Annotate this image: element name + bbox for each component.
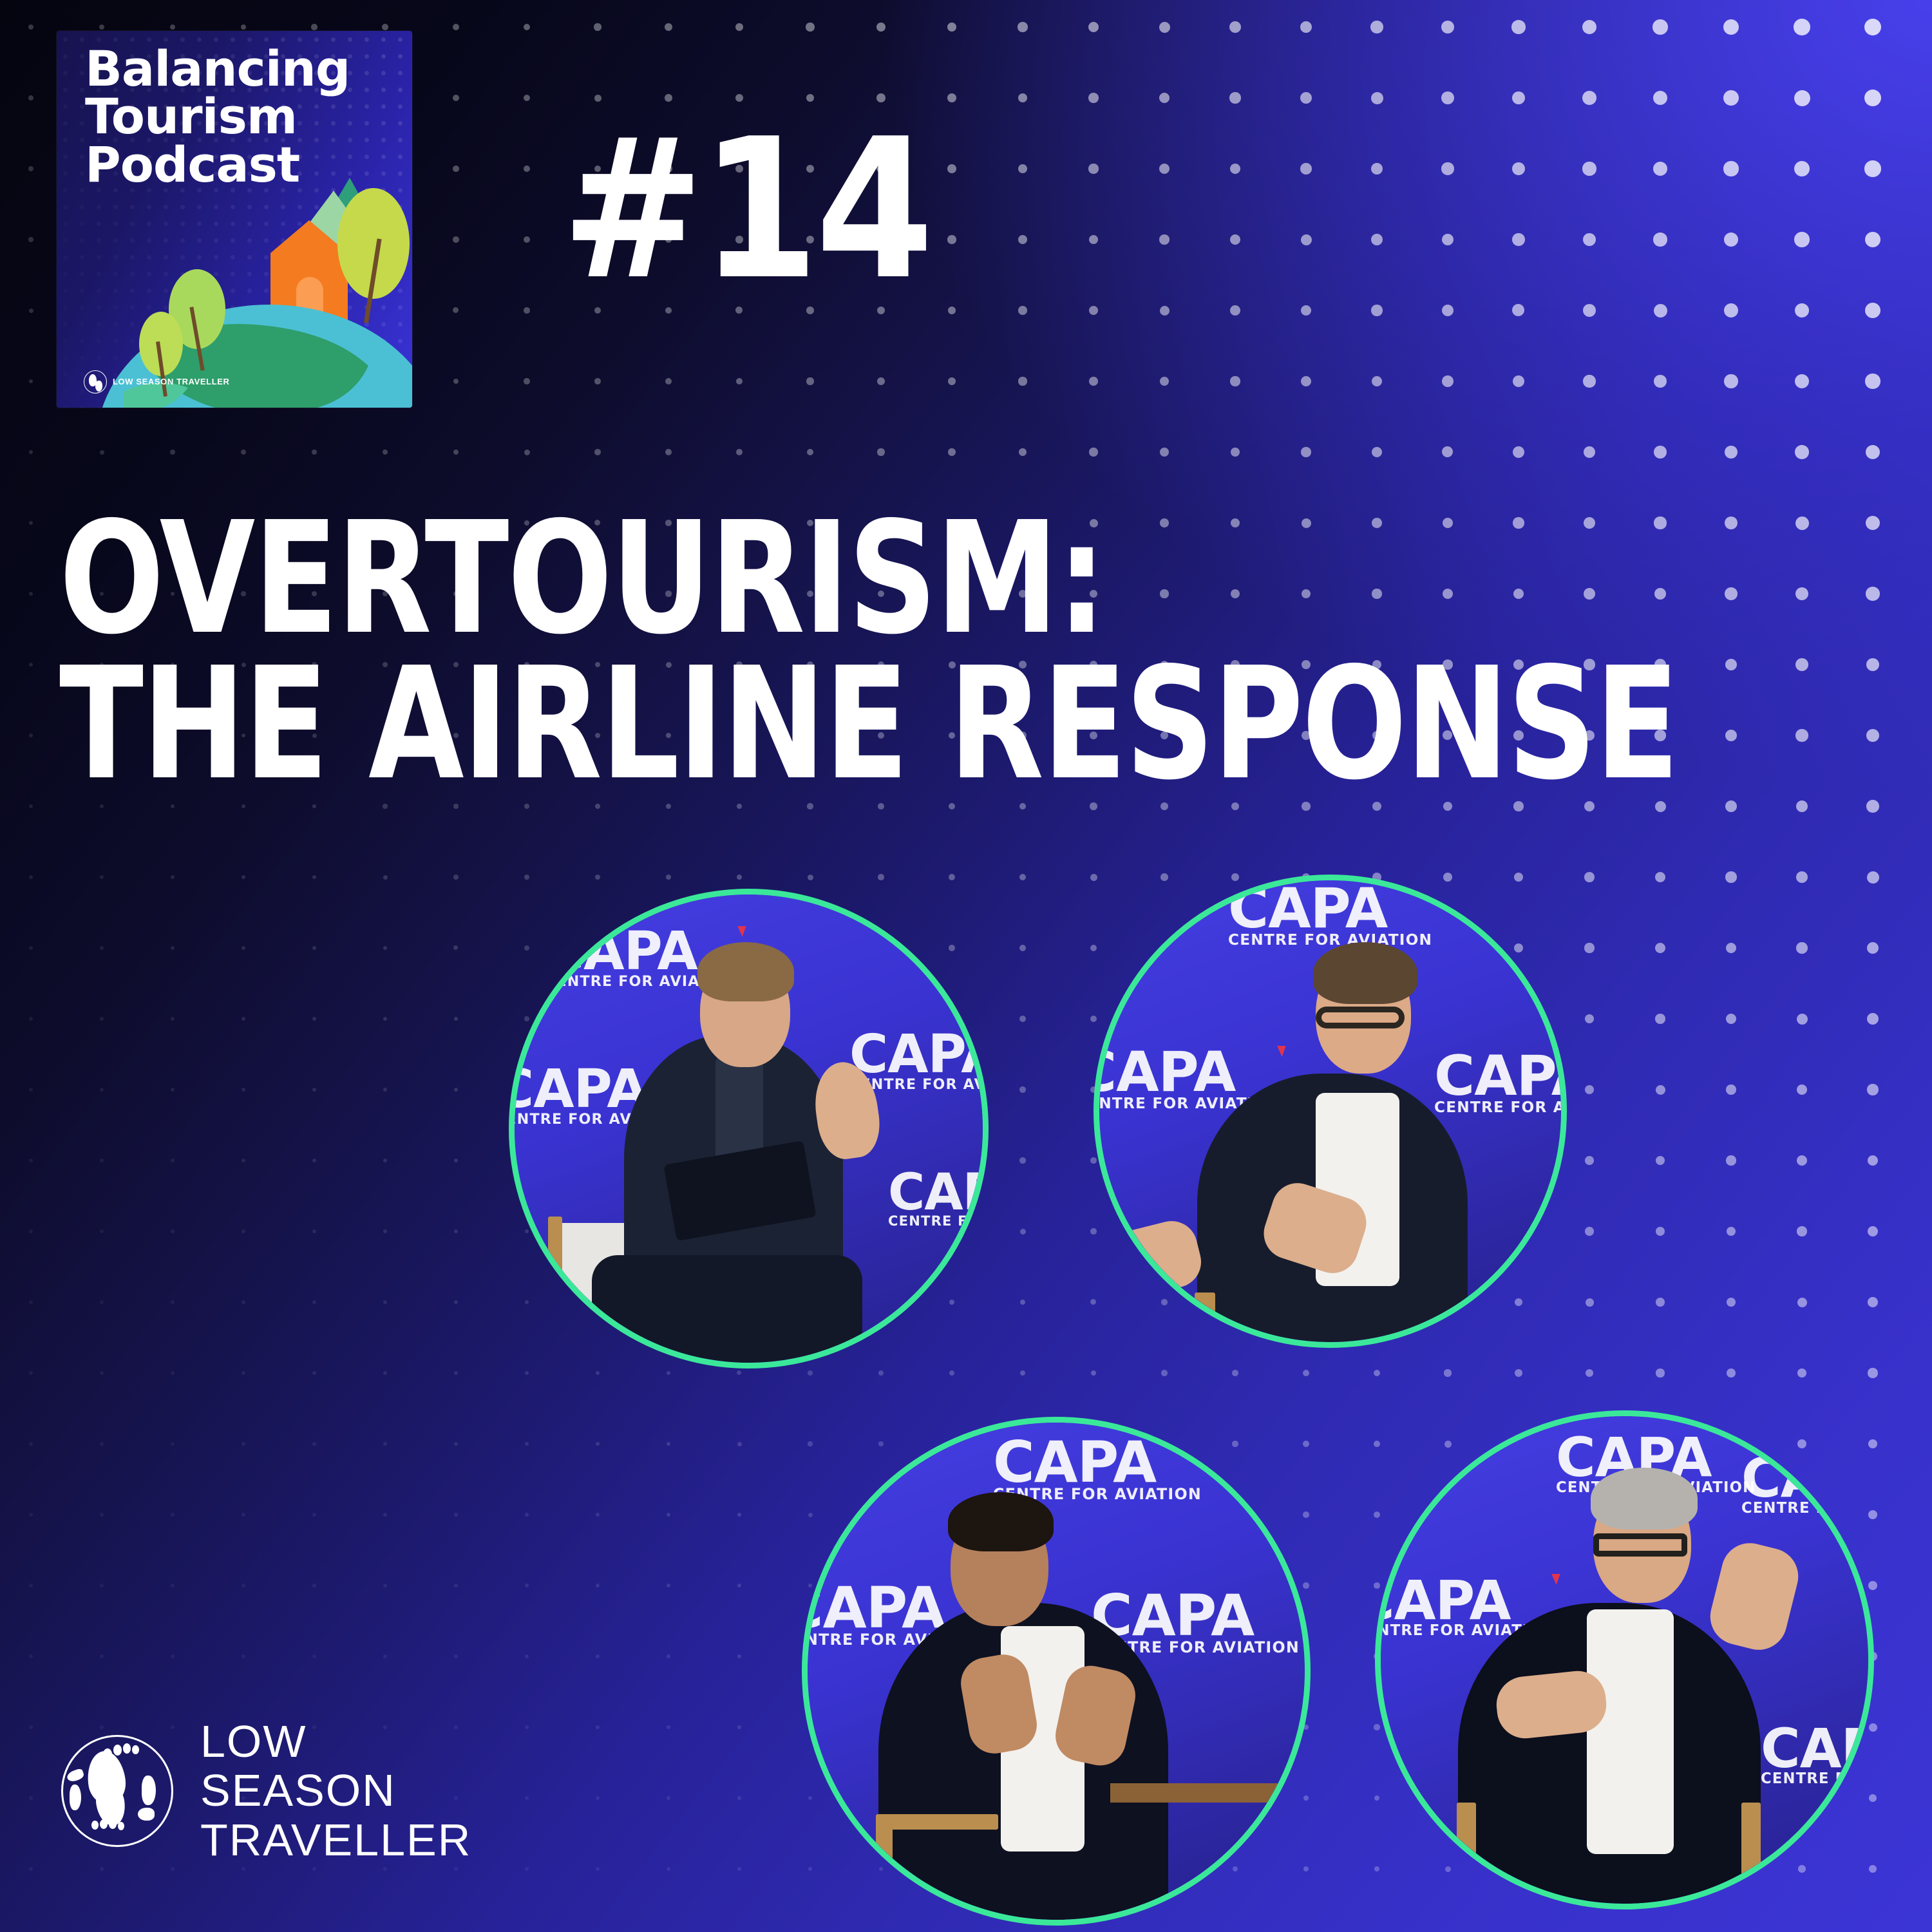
globe-footprint-icon bbox=[84, 370, 107, 393]
eyeglasses-icon bbox=[1316, 1007, 1405, 1028]
tile-brand-line-1: LOW bbox=[113, 377, 133, 386]
speaker-photo-bottom-right: CAPA CENTRE FOR AVIATION CAPA CENTRE FOR… bbox=[1375, 1410, 1874, 1909]
eyeglasses-icon bbox=[1593, 1533, 1687, 1557]
tile-brand-line-3: TRAVELLER bbox=[176, 377, 229, 386]
brand-name: LOW SEASON TRAVELLER bbox=[200, 1717, 471, 1864]
brand-line-1: LOW bbox=[200, 1717, 471, 1766]
tile-title-line-2: Tourism bbox=[85, 93, 394, 140]
globe-footprints-logo-icon bbox=[61, 1735, 173, 1847]
tile-title-line-1: Balancing bbox=[85, 45, 394, 93]
speaker-photo-bottom-left: CAPA CENTRE FOR AVIATION CAPA CENTRE FOR… bbox=[802, 1417, 1311, 1926]
episode-title-line-1: OVERTOURISM: bbox=[59, 506, 1517, 652]
tile-brand-text: LOW SEASON TRAVELLER bbox=[113, 377, 230, 386]
podcast-cover-art: Balancing Tourism Podcast LOW SEASON TRA… bbox=[0, 0, 1932, 1932]
toes-group bbox=[103, 1743, 143, 1760]
brand-lockup: LOW SEASON TRAVELLER bbox=[61, 1717, 471, 1864]
tile-title-line-3: Podcast bbox=[85, 141, 394, 189]
podcast-artwork-tile: Balancing Tourism Podcast LOW SEASON TRA… bbox=[57, 31, 412, 408]
toes-group bbox=[91, 1819, 125, 1832]
episode-title-line-2: THE AIRLINE RESPONSE bbox=[59, 652, 1517, 797]
capa-logo: CAPA CENTRE FOR AVIATION bbox=[1434, 1053, 1561, 1114]
capa-logo: CAPA CENTRE FOR AVIATION bbox=[888, 1171, 983, 1227]
speaker-photo-top-right: CAPA CENTRE FOR AVIATION CAPA CENTRE FOR… bbox=[1094, 875, 1567, 1348]
capa-logo: CAPA CENTRE FOR AVIATION bbox=[993, 1438, 1202, 1501]
tile-brand-logo: LOW SEASON TRAVELLER bbox=[84, 370, 230, 393]
speaker-photo-top-left: CAPA CENTRE FOR AVIATION CAPA CENTRE FOR… bbox=[509, 889, 989, 1368]
brand-line-2: SEASON bbox=[200, 1766, 471, 1815]
capa-logo: CAPA CENTRE FOR AVIATION bbox=[1761, 1725, 1868, 1785]
capa-logo: CAPA CENTRE FOR AVIATION bbox=[1741, 1455, 1868, 1515]
brand-line-3: TRAVELLER bbox=[200, 1815, 471, 1864]
tile-brand-line-2: SEASON bbox=[136, 377, 174, 386]
capa-logo: CAPA CENTRE FOR AVIATION bbox=[1228, 885, 1432, 947]
episode-title: OVERTOURISM: THE AIRLINE RESPONSE bbox=[59, 506, 1882, 797]
podcast-tile-title: Balancing Tourism Podcast bbox=[85, 45, 394, 189]
episode-number: #14 bbox=[562, 113, 931, 307]
